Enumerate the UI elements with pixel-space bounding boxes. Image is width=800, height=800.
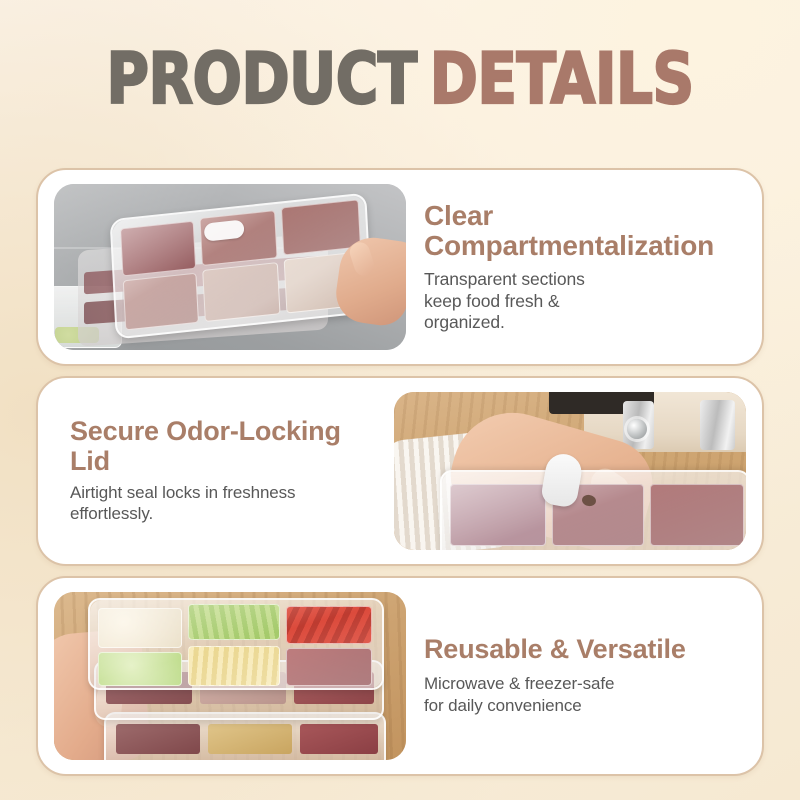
- card-content: Secure Odor-Locking Lid Airtight seal lo…: [38, 378, 762, 564]
- title-word-details: DETAILS: [430, 38, 694, 120]
- product-photo-stacked-containers: [54, 592, 406, 760]
- compartment-tray: [440, 470, 746, 550]
- feature-card-reusable-versatile: Reusable & Versatile Microwave & freezer…: [36, 576, 764, 776]
- card-heading: Reusable & Versatile: [424, 635, 742, 665]
- appliance-chrome-handle: [700, 400, 735, 451]
- card-heading: Clear Compartmentalization: [424, 201, 742, 263]
- card-body-text: Microwave & freezer-safe for daily conve…: [424, 673, 742, 717]
- feature-card-secure-odor-locking-lid: Secure Odor-Locking Lid Airtight seal lo…: [36, 376, 764, 566]
- card-body-text: Airtight seal locks in freshness effortl…: [70, 483, 376, 524]
- compartment-cell: [300, 724, 378, 754]
- compartment-tray: [88, 598, 384, 690]
- card-heading: Secure Odor-Locking Lid: [70, 417, 376, 476]
- compartment-cell: [116, 724, 200, 754]
- card-content: Reusable & Versatile Microwave & freezer…: [38, 578, 762, 774]
- page-title: PRODUCTDETAILS: [0, 44, 800, 114]
- product-photo-fridge-container: [54, 184, 406, 350]
- card-text-column: Secure Odor-Locking Lid Airtight seal lo…: [54, 417, 376, 525]
- lid-reflection: [112, 195, 371, 338]
- card-text-column: Clear Compartmentalization Transparent s…: [424, 201, 746, 334]
- product-photo-lid-opening: [394, 392, 746, 550]
- card-content: Clear Compartmentalization Transparent s…: [38, 170, 762, 364]
- card-text-column: Reusable & Versatile Microwave & freezer…: [424, 635, 746, 718]
- card-body-text: Transparent sections keep food fresh & o…: [424, 269, 742, 333]
- title-word-product: PRODUCT: [106, 38, 416, 120]
- feature-card-clear-compartmentalization: Clear Compartmentalization Transparent s…: [36, 168, 764, 366]
- product-details-page: PRODUCTDETAILS: [0, 0, 800, 800]
- lid-reflection: [442, 472, 746, 550]
- lid-reflection: [90, 600, 382, 688]
- compartment-cell: [208, 724, 292, 754]
